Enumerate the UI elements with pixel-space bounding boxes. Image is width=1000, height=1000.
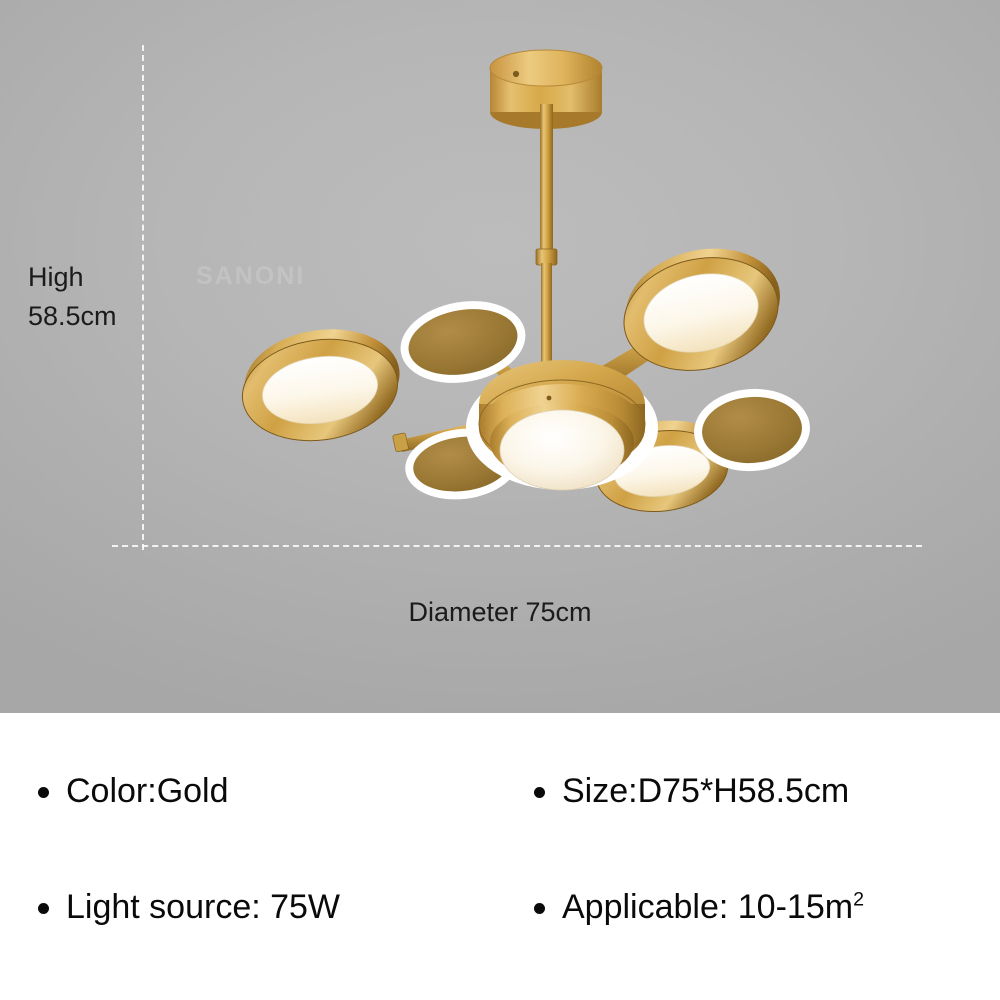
spec-label-superscript: 2 (853, 889, 864, 911)
central-hub (466, 360, 658, 490)
spec-item-color: Color:Gold (38, 774, 229, 808)
spec-item-size: Size:D75*H58.5cm (534, 774, 849, 808)
chandelier-illustration (0, 0, 1000, 713)
spec-label: Size:D75*H58.5cm (562, 774, 849, 808)
spec-label: Applicable: 10-15m2 (562, 890, 864, 924)
spec-label: Light source: 75W (66, 890, 340, 924)
spec-item-light-source: Light source: 75W (38, 890, 340, 924)
spec-list-panel: Color:Gold Size:D75*H58.5cm Light source… (0, 713, 1000, 1000)
bullet-icon (534, 787, 545, 798)
suspension-rod (536, 104, 557, 388)
bullet-icon (38, 787, 49, 798)
spec-item-applicable-area: Applicable: 10-15m2 (534, 890, 864, 924)
light-ring-left (236, 320, 406, 451)
product-photo-panel: SANONI High 58.5cm Diameter 75cm (0, 0, 1000, 713)
spec-label: Color:Gold (66, 774, 229, 808)
bullet-icon (534, 903, 545, 914)
bullet-icon (38, 903, 49, 914)
spec-label-text: Applicable: 10-15m (562, 888, 853, 926)
